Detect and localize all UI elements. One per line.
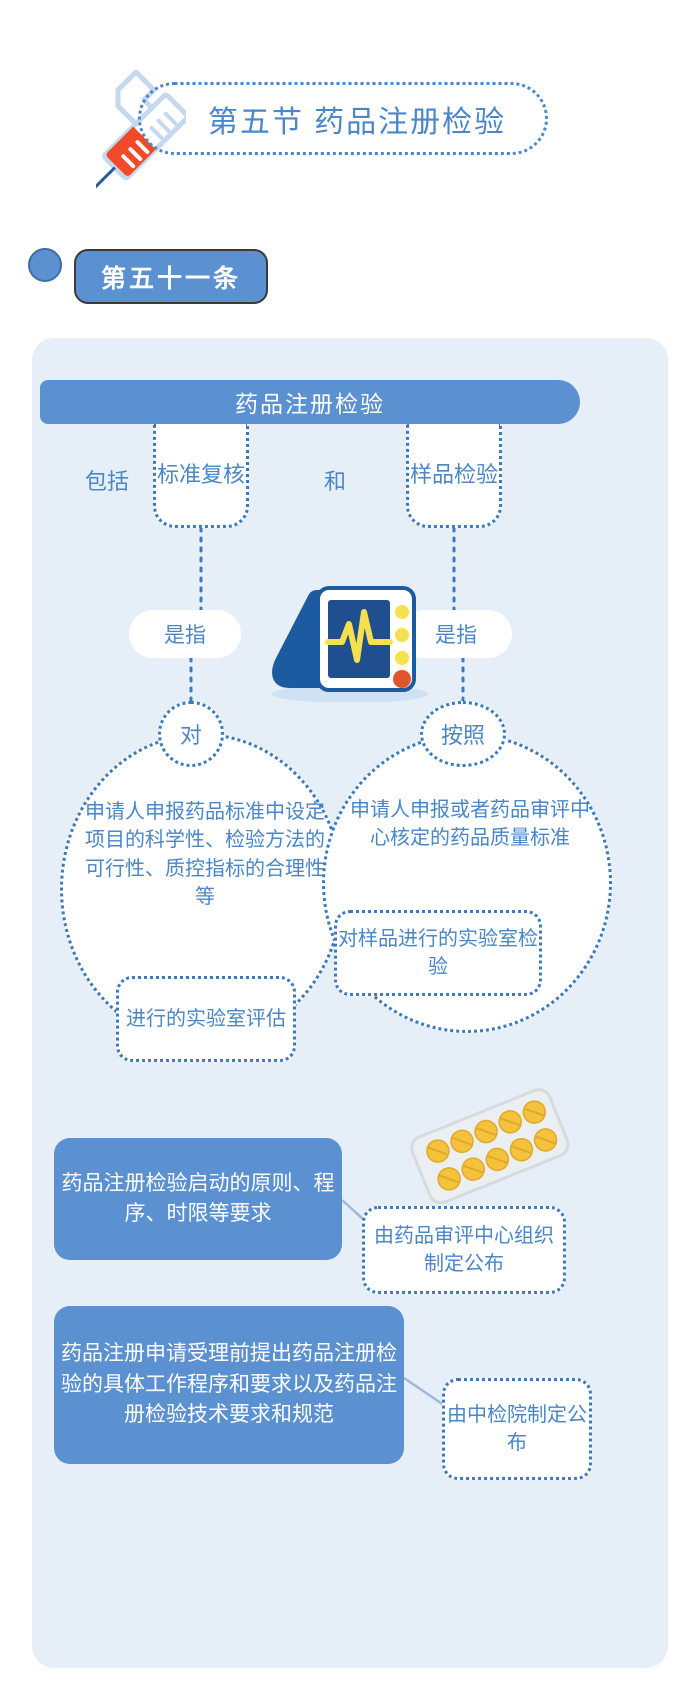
branch-right-action: 对样品进行的实验室检验 [334, 910, 542, 996]
branch-right-scope-text: 申请人申报或者药品审评中心核定的药品质量标准 [347, 796, 593, 853]
branch-left-scope-text: 申请人申报药品标准中设定项目的科学性、检验方法的可行性、质控指标的合理性等 [85, 798, 325, 912]
page-header: 第五节 药品注册检验 [0, 48, 700, 228]
page-title: 第五节 药品注册检验 [208, 97, 506, 141]
diagram-panel: 药品注册检验 包括 和 标准复核 样品检验 是指 是指 对 按照 申请人申报药品… [32, 338, 668, 1668]
branch-left-title: 标准复核 [153, 424, 249, 528]
includes-label: 包括 [62, 464, 152, 496]
article-badge[interactable]: 第五十一条 [74, 249, 268, 304]
branch-right-preposition: 按照 [420, 701, 506, 767]
branch-left-preposition: 对 [158, 701, 224, 767]
branch-right-title: 样品检验 [406, 424, 502, 528]
branch-left-action: 进行的实验室评估 [116, 976, 296, 1062]
branch-left-means-label: 是指 [129, 610, 241, 658]
medical-monitor-icon [250, 582, 450, 707]
and-label: 和 [290, 464, 380, 496]
article-badge-row: 第五十一条 [0, 222, 700, 312]
rule-authority-0: 由药品审评中心组织制定公布 [362, 1206, 566, 1294]
rule-subject-0: 药品注册检验启动的原则、程序、时限等要求 [54, 1138, 342, 1260]
pill-blister-icon [398, 1082, 578, 1217]
circle-bullet-icon [28, 248, 62, 282]
rule-authority-1: 由中检院制定公布 [442, 1378, 592, 1480]
rule-subject-1: 药品注册申请受理前提出药品注册检验的具体工作程序和要求以及药品注册检验技术要求和… [54, 1306, 404, 1464]
page-title-pill: 第五节 药品注册检验 [138, 82, 548, 155]
root-node: 药品注册检验 [40, 380, 580, 424]
root-node-label: 药品注册检验 [235, 385, 385, 419]
article-badge-label: 第五十一条 [101, 259, 241, 295]
